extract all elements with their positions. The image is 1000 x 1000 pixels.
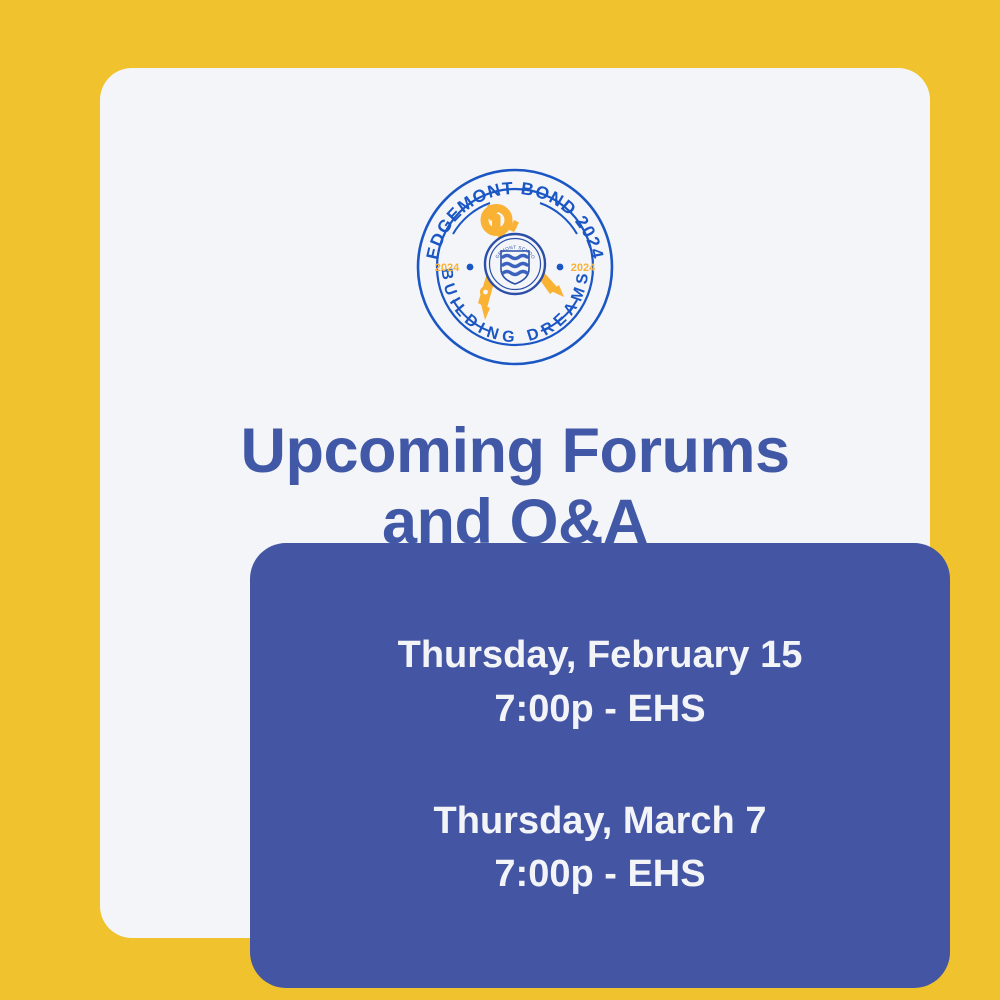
- logo-dot-left: [467, 264, 474, 271]
- event-time-location: 7:00p - EHS: [434, 848, 767, 902]
- event-date: Thursday, February 15: [398, 629, 803, 683]
- edgemont-bond-2024-logo: EDGEMONT BOND 2024 BUILDING DREAMS 2024 …: [415, 168, 615, 366]
- content-card: EDGEMONT BOND 2024 BUILDING DREAMS 2024 …: [100, 68, 930, 938]
- event-time-location: 7:00p - EHS: [398, 683, 803, 737]
- logo-year-right: 2024: [571, 262, 596, 274]
- event-item: Thursday, February 15 7:00p - EHS: [398, 629, 803, 737]
- event-date: Thursday, March 7: [434, 795, 767, 849]
- logo-dot-right: [557, 264, 564, 271]
- poster-canvas: EDGEMONT BOND 2024 BUILDING DREAMS 2024 …: [0, 0, 1000, 1000]
- page-title: Upcoming Forums and Q&A: [100, 416, 930, 557]
- event-item: Thursday, March 7 7:00p - EHS: [434, 795, 767, 903]
- logo-year-left: 2024: [435, 262, 460, 274]
- events-panel: Thursday, February 15 7:00p - EHS Thursd…: [250, 543, 950, 988]
